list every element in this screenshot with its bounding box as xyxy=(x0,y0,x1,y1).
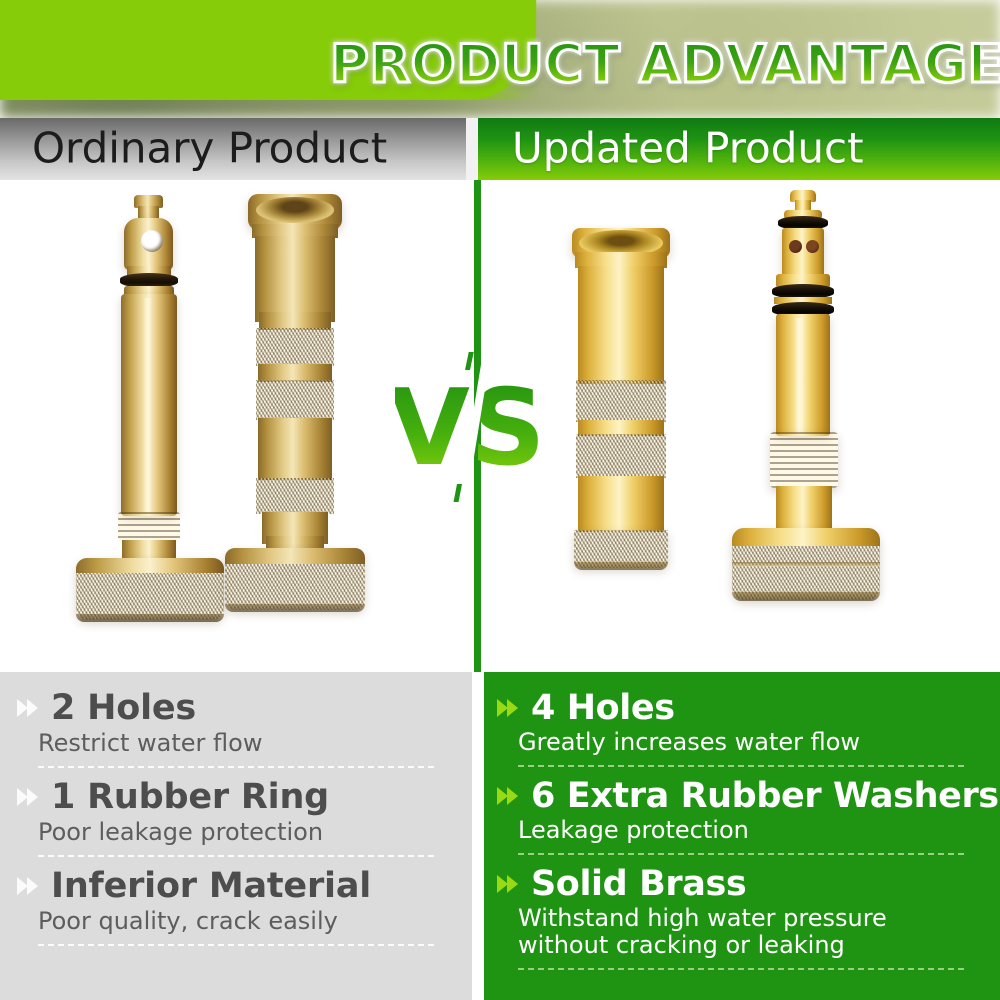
product-advantages-infographic: PRODUCT ADVANTAGES Ordinary Product Upda… xyxy=(0,0,1000,1000)
feature-subtitle: Leakage protection xyxy=(518,817,988,844)
divider xyxy=(38,855,434,857)
feature-title: 4 Holes xyxy=(531,688,675,728)
double-triangle-bullet-icon xyxy=(14,874,44,898)
feature-subtitle: Poor quality, crack easily xyxy=(38,907,458,935)
feature-title: 1 Rubber Ring xyxy=(51,777,329,817)
column-header-gap xyxy=(466,118,478,180)
feature-title: 2 Holes xyxy=(51,688,196,728)
column-header-ordinary: Ordinary Product xyxy=(0,118,476,180)
header-banner: PRODUCT ADVANTAGES xyxy=(0,0,1000,118)
list-item: 4 Holes Greatly increases water flow xyxy=(494,688,988,756)
page-title: PRODUCT ADVANTAGES xyxy=(330,34,980,96)
list-item: 1 Rubber Ring Poor leakage protection xyxy=(14,777,458,846)
vertical-divider-lower xyxy=(474,672,481,1000)
feature-subtitle: Withstand high water pressure without cr… xyxy=(518,905,973,959)
feature-subtitle: Restrict water flow xyxy=(38,729,458,757)
divider xyxy=(518,968,964,970)
column-header-updated: Updated Product xyxy=(476,118,1000,180)
divider xyxy=(518,765,964,767)
divider xyxy=(38,944,434,946)
divider xyxy=(518,853,964,855)
feature-subtitle: Greatly increases water flow xyxy=(518,729,988,756)
feature-title: 6 Extra Rubber Washers xyxy=(531,776,999,816)
double-triangle-bullet-icon xyxy=(14,785,44,809)
double-triangle-bullet-icon xyxy=(494,696,524,720)
feature-title: Inferior Material xyxy=(51,866,371,906)
list-item: 2 Holes Restrict water flow xyxy=(14,688,458,757)
double-triangle-bullet-icon xyxy=(14,696,44,720)
column-header-updated-label: Updated Product xyxy=(512,124,864,173)
updated-feature-list: 4 Holes Greatly increases water flow 6 E… xyxy=(484,672,1000,1000)
double-triangle-bullet-icon xyxy=(494,872,524,896)
list-item: Solid Brass Withstand high water pressur… xyxy=(494,864,988,959)
column-header-ordinary-label: Ordinary Product xyxy=(32,124,387,173)
divider xyxy=(38,766,434,768)
feature-title: Solid Brass xyxy=(531,864,746,904)
feature-subtitle: Poor leakage protection xyxy=(38,818,458,846)
list-item: 6 Extra Rubber Washers Leakage protectio… xyxy=(494,776,988,844)
ordinary-feature-list: 2 Holes Restrict water flow 1 Rubber Rin… xyxy=(0,672,472,1000)
updated-product-photo xyxy=(484,180,1000,672)
list-item: Inferior Material Poor quality, crack ea… xyxy=(14,866,458,935)
double-triangle-bullet-icon xyxy=(494,784,524,808)
vs-badge: VS xyxy=(395,352,545,502)
